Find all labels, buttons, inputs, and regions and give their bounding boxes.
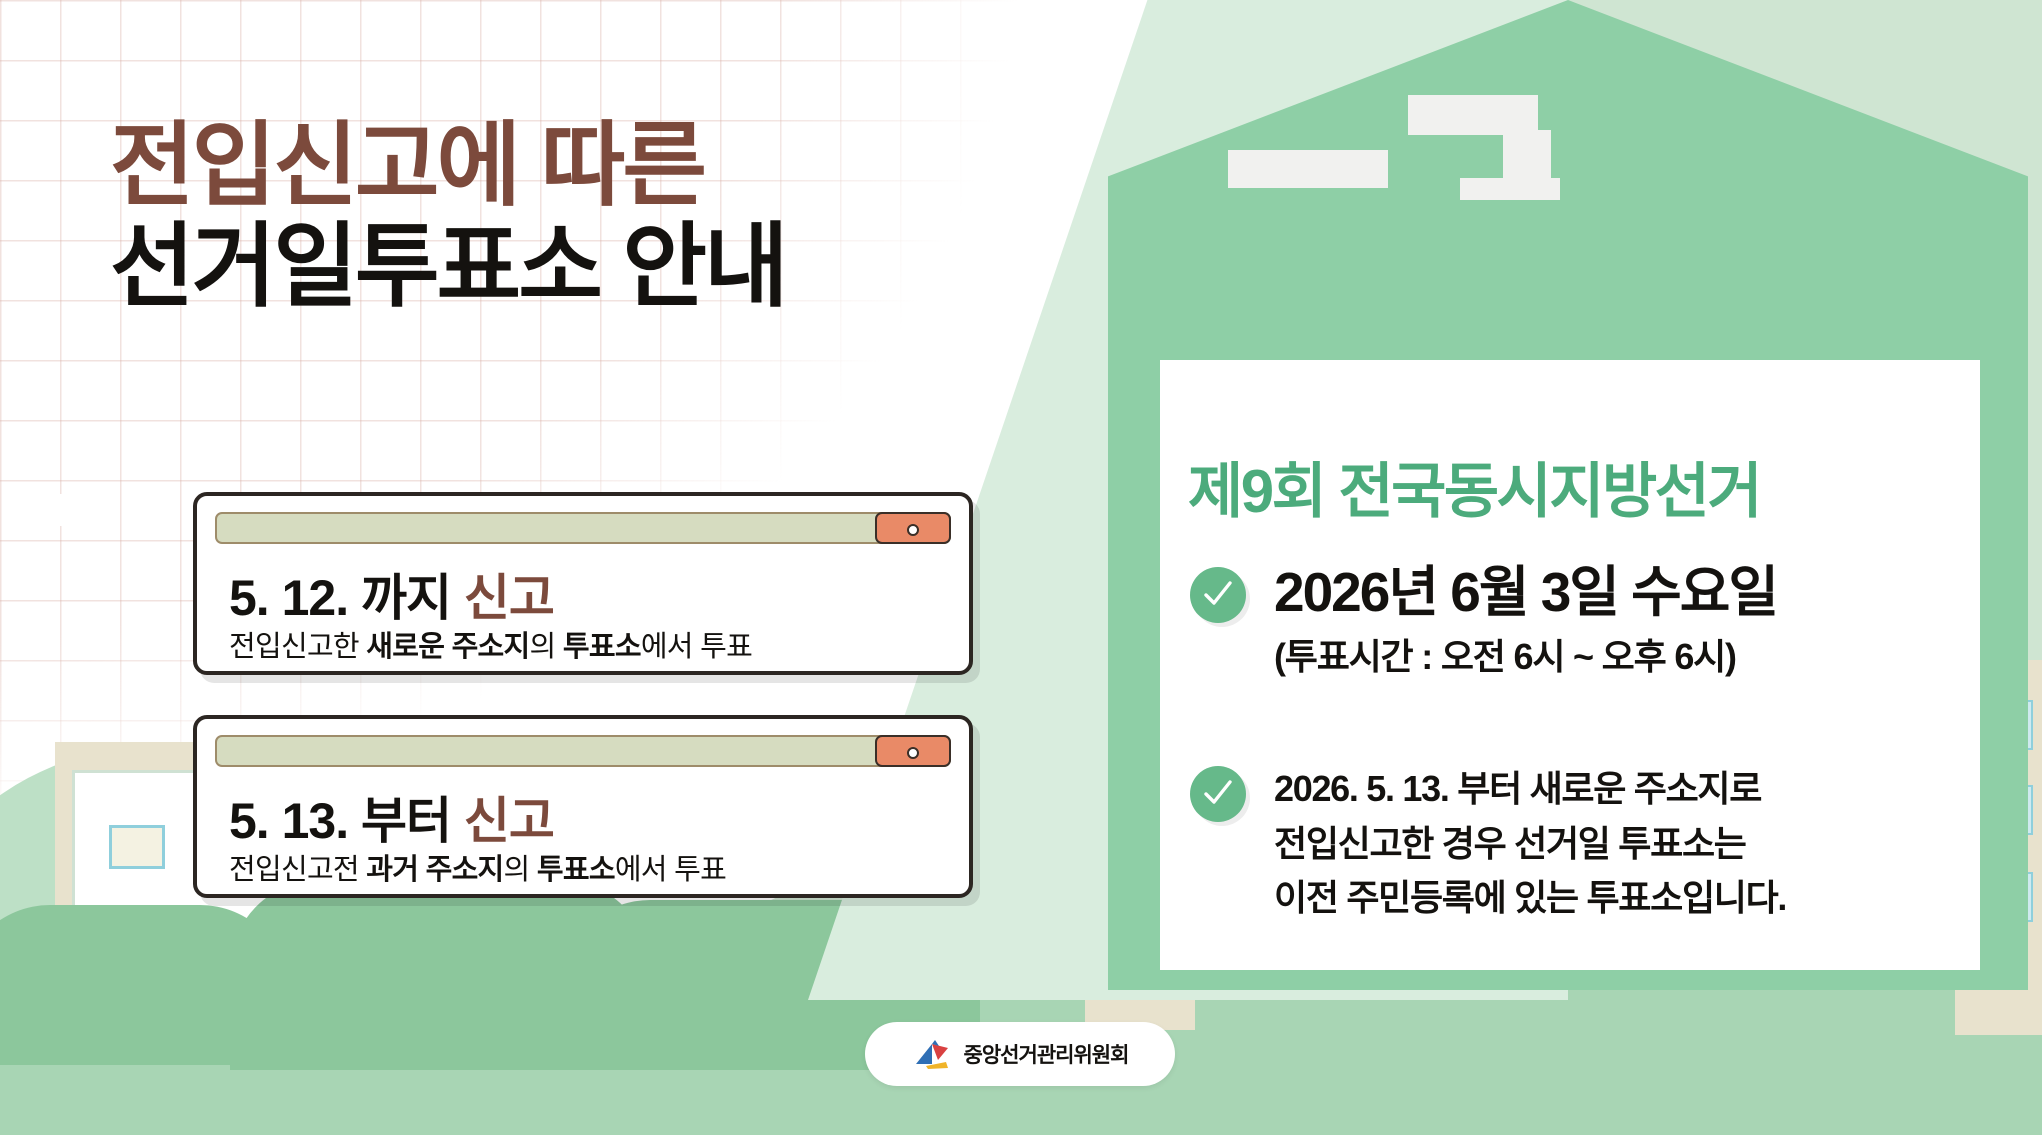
card-sub-bold2: 투표소 <box>563 631 641 663</box>
card-sub-mid: 의 <box>504 854 537 886</box>
card-sub-bold1: 과거 주소지 <box>366 854 503 886</box>
decor-shape <box>1228 150 1388 188</box>
election-date-text: 2026년 6월 3일 수요일 (투표시간 : 오전 6시 ~ 오후 6시) <box>1274 563 1777 680</box>
decor-shape <box>1503 130 1551 178</box>
footer-logo-badge[interactable]: 중앙선거관리위원회 <box>865 1022 1175 1086</box>
card-sub-bold1: 새로운 주소지 <box>366 631 529 663</box>
poster-canvas: 전입신고에 따른 선거일투표소 안내 5. 12. 까지 신고 전입신고한 새로… <box>0 0 2042 1135</box>
election-heading: 제9회 전국동시지방선거 <box>1188 443 1760 530</box>
card-headline-highlight: 신고 <box>464 570 554 626</box>
toggle-dot <box>907 524 919 536</box>
election-note-bold: 전입신고 <box>1274 823 1401 864</box>
election-note-line-2: 전입신고한 경우 선거일 투표소는 <box>1274 817 1786 872</box>
election-note-line-3: 이전 주민등록에 있는 투표소입니다. <box>1274 871 1786 926</box>
card-headline-plain: 5. 12. 까지 <box>229 570 464 626</box>
election-date-secondary: (투표시간 : 오전 6시 ~ 오후 6시) <box>1274 628 1777 680</box>
card-sub-suffix: 에서 투표 <box>641 631 752 663</box>
organization-name: 중앙선거관리위원회 <box>964 1039 1129 1069</box>
cloud-icon <box>28 506 114 526</box>
card-headline: 5. 12. 까지 신고 <box>229 558 554 630</box>
title-line-1: 전입신고에 따른 <box>110 118 1070 216</box>
election-note-text: 2026. 5. 13. 부터 새로운 주소지로 전입신고한 경우 선거일 투표… <box>1274 762 1786 926</box>
card-sub-mid: 의 <box>530 631 563 663</box>
pinwheel-logo <box>912 1038 954 1070</box>
card-sub-suffix: 에서 투표 <box>615 854 726 886</box>
card-top-bar <box>215 735 951 767</box>
card-headline-highlight: 신고 <box>464 793 554 849</box>
card-top-bar <box>215 512 951 544</box>
toggle-dot <box>907 747 919 759</box>
check-circle-icon <box>1190 567 1246 623</box>
card-sub-prefix: 전입신고한 <box>229 631 366 663</box>
toggle-pill[interactable] <box>875 735 951 767</box>
card-headline-plain: 5. 13. 부터 <box>229 793 464 849</box>
page-title: 전입신고에 따른 선거일투표소 안내 <box>110 118 1070 319</box>
card-sub-bold2: 투표소 <box>537 854 615 886</box>
info-card-deadline-0513[interactable]: 5. 13. 부터 신고 전입신고전 과거 주소지의 투표소에서 투표 <box>193 715 973 898</box>
card-headline: 5. 13. 부터 신고 <box>229 781 554 853</box>
info-card-deadline-0512[interactable]: 5. 12. 까지 신고 전입신고한 새로운 주소지의 투표소에서 투표 <box>193 492 973 675</box>
election-note-rest: 한 경우 선거일 투표소는 <box>1401 823 1745 864</box>
window-icon <box>109 825 165 869</box>
toggle-pill[interactable] <box>875 512 951 544</box>
card-subtext: 전입신고전 과거 주소지의 투표소에서 투표 <box>229 846 726 888</box>
election-date-primary: 2026년 6월 3일 수요일 <box>1274 563 1777 622</box>
card-subtext: 전입신고한 새로운 주소지의 투표소에서 투표 <box>229 623 752 665</box>
election-note-line-1: 2026. 5. 13. 부터 새로운 주소지로 <box>1274 762 1786 817</box>
decor-shape <box>1460 178 1560 200</box>
check-circle-icon <box>1190 766 1246 822</box>
card-sub-prefix: 전입신고전 <box>229 854 366 886</box>
title-line-2: 선거일투표소 안내 <box>110 216 1070 319</box>
decor-shape <box>1408 95 1538 135</box>
